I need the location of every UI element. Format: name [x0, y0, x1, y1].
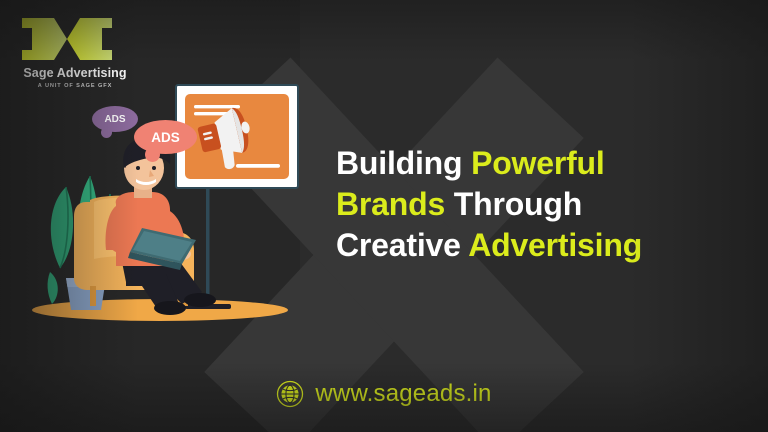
- headline-line-1-plain: Building: [336, 145, 471, 181]
- footer-website[interactable]: www.sageads.in: [0, 380, 768, 408]
- headline-line-3: Creative Advertising: [336, 225, 736, 266]
- ads-bubble-pink: ADS: [134, 120, 197, 154]
- headline-line-2-plain: Through: [445, 186, 582, 222]
- headline-line-2: Brands Through: [336, 184, 736, 225]
- logo-tagline: A UNIT OF SAGE GFX: [20, 83, 130, 89]
- headline-line-3-accent: Advertising: [468, 227, 642, 263]
- logo-name: Sage Advertising: [20, 66, 130, 80]
- ads-bubble-pink-label: ADS: [151, 130, 180, 145]
- globe-icon: [276, 380, 304, 408]
- headline-line-3-plain: Creative: [336, 227, 468, 263]
- illustration-svg: [30, 82, 330, 332]
- headline-line-1: Building Powerful: [336, 143, 736, 184]
- sage-dx-monogram-icon: [20, 16, 114, 62]
- promo-banner: ADS ADS Sage Advertising A UNIT OF SAGE …: [0, 0, 768, 432]
- headline-line-1-accent: Powerful: [471, 145, 605, 181]
- headline: Building Powerful Brands Through Creativ…: [336, 143, 736, 266]
- headline-line-2-accent: Brands: [336, 186, 445, 222]
- ads-bubble-purple-label: ADS: [104, 114, 125, 125]
- website-url[interactable]: www.sageads.in: [315, 380, 491, 408]
- brand-logo[interactable]: Sage Advertising A UNIT OF SAGE GFX: [20, 16, 130, 89]
- hero-illustration: ADS ADS: [30, 82, 330, 332]
- ads-bubble-purple: ADS: [92, 106, 138, 132]
